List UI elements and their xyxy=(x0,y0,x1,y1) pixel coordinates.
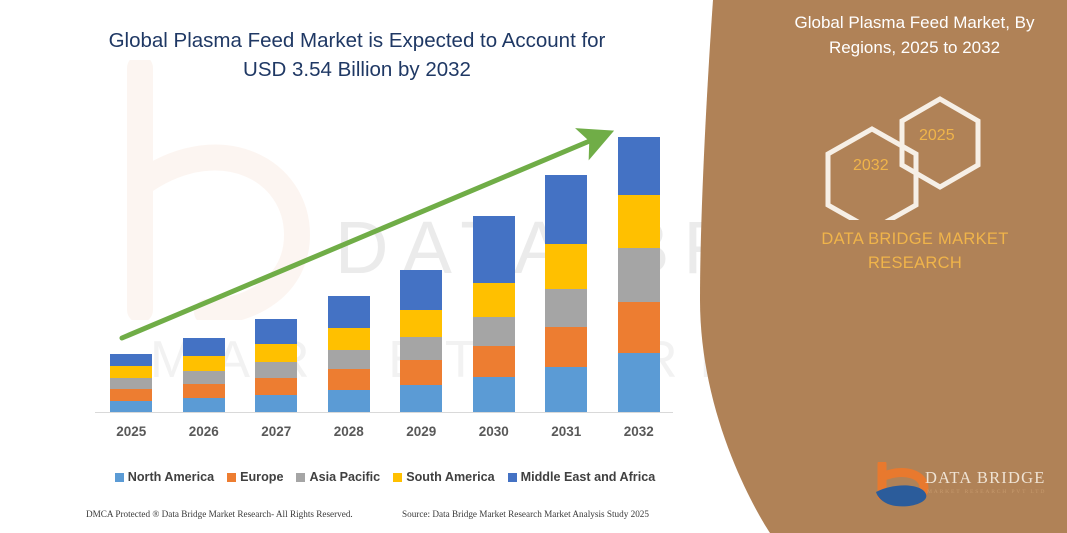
x-axis-label: 2031 xyxy=(536,424,596,439)
bar-segment[interactable] xyxy=(328,296,370,328)
logo-wordmark: DATA BRIDGE xyxy=(925,468,1046,488)
bar-group[interactable] xyxy=(110,354,152,413)
x-axis-label: 2032 xyxy=(609,424,669,439)
logo-subtext: MARKET RESEARCH PVT LTD xyxy=(927,489,1046,495)
bar-segment[interactable] xyxy=(328,328,370,350)
bar-group[interactable] xyxy=(183,338,225,413)
bar-segment[interactable] xyxy=(545,327,587,367)
footer-source: Source: Data Bridge Market Research Mark… xyxy=(402,509,649,519)
legend-swatch-icon xyxy=(393,473,402,482)
bar-segment[interactable] xyxy=(473,216,515,282)
bar-group[interactable] xyxy=(400,270,442,413)
bar-segment[interactable] xyxy=(110,354,152,366)
bar-segment[interactable] xyxy=(255,395,297,413)
chart-title: Global Plasma Feed Market is Expected to… xyxy=(92,26,622,84)
bar-segment[interactable] xyxy=(255,362,297,378)
x-axis-label: 2026 xyxy=(174,424,234,439)
hex-label-2025: 2025 xyxy=(919,127,955,145)
legend-swatch-icon xyxy=(227,473,236,482)
legend-label: Asia Pacific xyxy=(309,470,380,484)
watermark-text-research: RESEARCH xyxy=(640,330,1067,390)
bar-segment[interactable] xyxy=(473,317,515,346)
bar-segment[interactable] xyxy=(545,244,587,288)
bar-segment[interactable] xyxy=(473,283,515,317)
bar-segment[interactable] xyxy=(400,385,442,413)
x-axis-label: 2027 xyxy=(246,424,306,439)
bar-segment[interactable] xyxy=(400,270,442,310)
brand-name: DATA BRIDGE MARKET RESEARCH xyxy=(800,227,1030,275)
footer-copyright: DMCA Protected ® Data Bridge Market Rese… xyxy=(86,509,353,519)
legend-label: North America xyxy=(128,470,214,484)
bar-segment[interactable] xyxy=(110,378,152,389)
x-axis-label: 2030 xyxy=(464,424,524,439)
x-axis-label: 2025 xyxy=(101,424,161,439)
hex-label-2032: 2032 xyxy=(853,157,889,175)
legend-swatch-icon xyxy=(508,473,517,482)
infographic-canvas: DATA BRIDGE MARKET RESEARCH Global Plasm… xyxy=(0,0,1067,533)
legend-swatch-icon xyxy=(296,473,305,482)
bar-group[interactable] xyxy=(473,216,515,413)
bar-segment[interactable] xyxy=(183,398,225,413)
x-axis-labels: 20252026202720282029203020312032 xyxy=(95,424,675,446)
bar-group[interactable] xyxy=(328,296,370,413)
bar-group[interactable] xyxy=(545,175,587,413)
bar-segment[interactable] xyxy=(328,350,370,369)
bar-segment[interactable] xyxy=(255,344,297,362)
bar-segment[interactable] xyxy=(618,353,660,413)
hexagon-badges: 2032 2025 xyxy=(820,95,1020,220)
bar-segment[interactable] xyxy=(183,338,225,356)
bar-segment[interactable] xyxy=(618,195,660,248)
x-axis-line xyxy=(95,412,673,413)
bar-segment[interactable] xyxy=(255,319,297,344)
stacked-bar-plot xyxy=(95,110,675,413)
bar-segment[interactable] xyxy=(545,175,587,244)
bar-segment[interactable] xyxy=(545,367,587,413)
bar-segment[interactable] xyxy=(400,310,442,337)
bar-segment[interactable] xyxy=(618,302,660,353)
x-axis-label: 2029 xyxy=(391,424,451,439)
x-axis-label: 2028 xyxy=(319,424,379,439)
legend-item[interactable]: Middle East and Africa xyxy=(508,470,656,484)
bar-segment[interactable] xyxy=(473,346,515,377)
hexagon-outlines-icon xyxy=(820,95,1020,220)
legend-item[interactable]: South America xyxy=(393,470,494,484)
legend-label: South America xyxy=(406,470,494,484)
legend-label: Europe xyxy=(240,470,283,484)
bar-segment[interactable] xyxy=(328,390,370,413)
bar-segment[interactable] xyxy=(400,360,442,385)
legend-item[interactable]: Europe xyxy=(227,470,283,484)
bar-segment[interactable] xyxy=(183,384,225,398)
bar-segment[interactable] xyxy=(545,289,587,327)
bar-segment[interactable] xyxy=(618,248,660,301)
bar-segment[interactable] xyxy=(183,371,225,384)
legend-item[interactable]: Asia Pacific xyxy=(296,470,380,484)
bar-segment[interactable] xyxy=(183,356,225,371)
bar-group[interactable] xyxy=(618,137,660,413)
bar-segment[interactable] xyxy=(473,377,515,413)
bar-segment[interactable] xyxy=(400,337,442,360)
legend-swatch-icon xyxy=(115,473,124,482)
panel-title: Global Plasma Feed Market, By Regions, 2… xyxy=(772,10,1057,60)
bar-segment[interactable] xyxy=(110,389,152,401)
chart-legend: North AmericaEuropeAsia PacificSouth Ame… xyxy=(95,470,675,484)
bar-segment[interactable] xyxy=(618,137,660,195)
legend-item[interactable]: North America xyxy=(115,470,214,484)
bar-group[interactable] xyxy=(255,319,297,413)
bar-segment[interactable] xyxy=(110,366,152,378)
bar-segment[interactable] xyxy=(255,378,297,395)
legend-label: Middle East and Africa xyxy=(521,470,656,484)
bar-segment[interactable] xyxy=(328,369,370,390)
